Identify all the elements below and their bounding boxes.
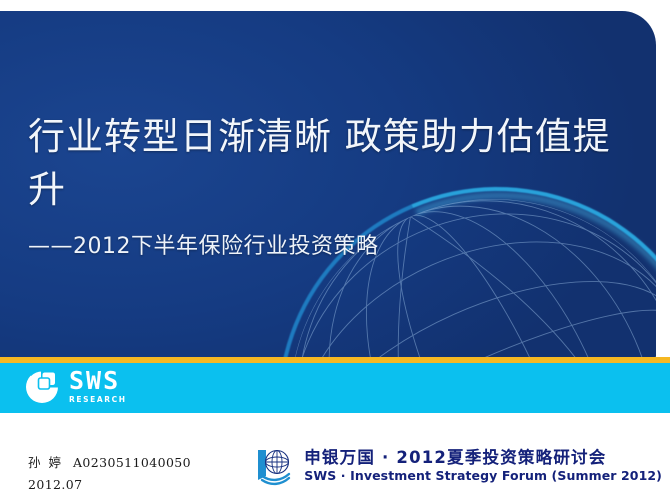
sws-circle-squares-icon bbox=[22, 367, 62, 407]
author-line: 孙 婷A0230511040050 bbox=[28, 452, 191, 474]
forum-title-cn: 申银万国 · 2012夏季投资策略研讨会 bbox=[304, 449, 662, 467]
author-license-code: A0230511040050 bbox=[73, 455, 191, 470]
globe-hand-icon bbox=[255, 446, 297, 486]
page-subtitle: ——2012下半年保险行业投资策略 bbox=[28, 228, 648, 260]
title-block: 行业转型日渐清晰 政策助力估值提升 ——2012下半年保险行业投资策略 bbox=[28, 111, 648, 260]
sws-name: SWS bbox=[69, 368, 127, 393]
forum-text: 申银万国 · 2012夏季投资策略研讨会 SWS · Investment St… bbox=[304, 449, 662, 483]
author-date: 2012.07 bbox=[28, 474, 191, 496]
forum-footer: 申银万国 · 2012夏季投资策略研讨会 SWS · Investment St… bbox=[255, 446, 662, 486]
presentation-slide: 行业转型日渐清晰 政策助力估值提升 ——2012下半年保险行业投资策略 SWS … bbox=[0, 0, 670, 503]
author-name: 孙 婷 bbox=[28, 455, 63, 470]
sws-tagline: RESEARCH bbox=[69, 396, 127, 404]
sws-wordmark: SWS RESEARCH bbox=[69, 368, 127, 406]
author-block: 孙 婷A0230511040050 2012.07 bbox=[28, 452, 191, 496]
sws-research-logo: SWS RESEARCH bbox=[22, 366, 127, 408]
page-title: 行业转型日渐清晰 政策助力估值提升 bbox=[28, 111, 648, 216]
slide-hero-panel: 行业转型日渐清晰 政策助力估值提升 ——2012下半年保险行业投资策略 bbox=[0, 11, 656, 359]
forum-title-en: SWS · Investment Strategy Forum (Summer … bbox=[304, 469, 662, 483]
